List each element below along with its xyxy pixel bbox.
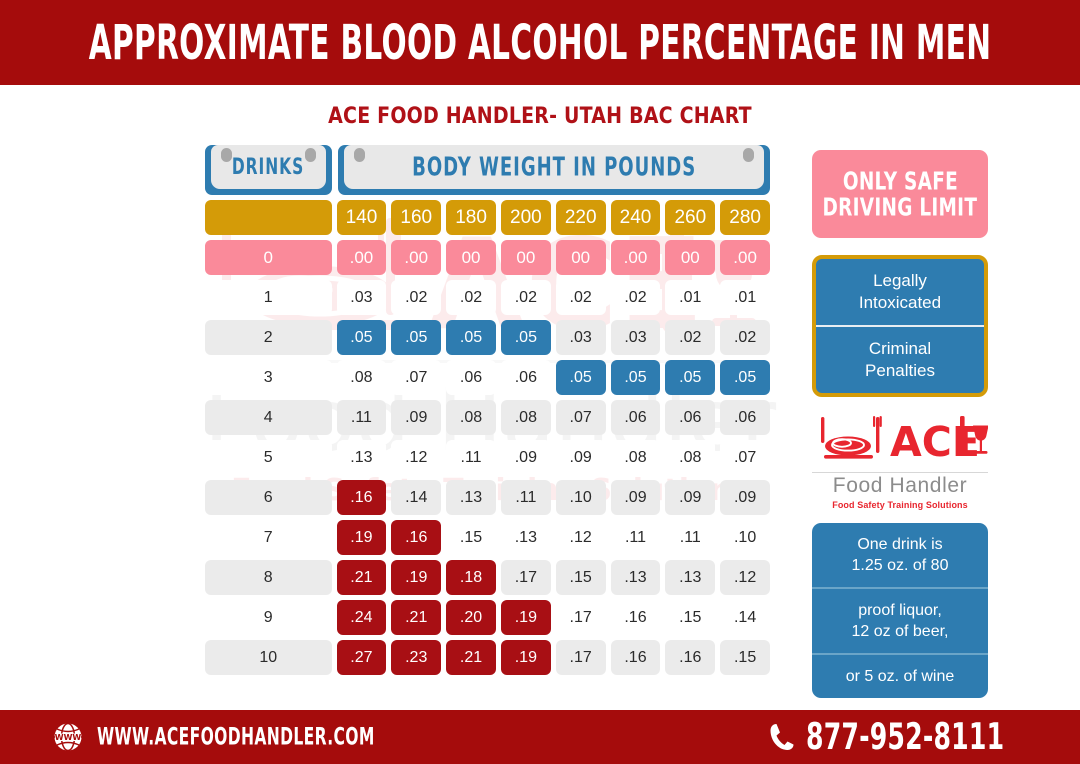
bac-value-cell: .14 [391, 480, 441, 515]
bac-value-cell: .19 [391, 560, 441, 595]
bac-value-cell: .11 [446, 440, 496, 475]
header-tab-weight: BODY WEIGHT IN POUNDS [338, 145, 770, 195]
bac-value-cell: .07 [391, 360, 441, 395]
bac-value-cell: .05 [446, 320, 496, 355]
page-title: APPROXIMATE BLOOD ALCOHOL PERCENTAGE IN … [89, 15, 991, 71]
info-segment-1: One drink is 1.25 oz. of 80 [812, 523, 988, 587]
weight-column-header: 260 [665, 200, 715, 235]
bac-value-cell: .16 [337, 480, 387, 515]
bac-value-cell: .21 [337, 560, 387, 595]
bac-value-cell: .19 [501, 640, 551, 675]
bac-value-cell: .16 [611, 600, 661, 635]
bac-value-cell: .21 [446, 640, 496, 675]
bac-value-cell: .08 [446, 400, 496, 435]
drinks-count-cell: 6 [205, 480, 332, 515]
bac-value-cell: .08 [337, 360, 387, 395]
info-line1b: 1.25 oz. of 80 [816, 555, 984, 576]
bac-value-cell: .15 [556, 560, 606, 595]
bac-value-cell: .13 [501, 520, 551, 555]
drinks-count-cell: 9 [205, 600, 332, 635]
pin-icon [354, 148, 365, 162]
bac-value-cell: .17 [501, 560, 551, 595]
bac-value-cell: .07 [720, 440, 770, 475]
footer-website[interactable]: WWW WWW.ACEFOODHANDLER.COM [53, 722, 436, 752]
drinks-count-cell: 5 [205, 440, 332, 475]
bac-value-cell: .18 [446, 560, 496, 595]
bac-value-cell: .09 [556, 440, 606, 475]
legend-intoxicated-group: Legally Intoxicated Criminal Penalties [812, 255, 988, 397]
pin-icon [221, 148, 232, 162]
drinks-count-cell: 8 [205, 560, 332, 595]
table-row: 2.05.05.05.05.03.03.02.02 [205, 320, 770, 355]
weight-column-header: 240 [611, 200, 661, 235]
bac-value-cell: .06 [446, 360, 496, 395]
bac-value-cell: .20 [446, 600, 496, 635]
logo-divider [812, 472, 988, 473]
bac-value-cell: .03 [611, 320, 661, 355]
legend-intox-line1: Legally [820, 270, 980, 292]
top-banner: APPROXIMATE BLOOD ALCOHOL PERCENTAGE IN … [0, 0, 1080, 85]
bac-value-cell: .09 [391, 400, 441, 435]
bac-value-cell: .09 [665, 480, 715, 515]
legend-sidebar: ONLY SAFE DRIVING LIMIT Legally Intoxica… [812, 150, 988, 698]
pin-icon [743, 148, 754, 162]
weights-header-row: 140160180200220240260280 [205, 200, 770, 235]
bac-value-cell: .05 [501, 320, 551, 355]
info-line2b: 12 oz of beer, [816, 621, 984, 642]
weight-column-header: 180 [446, 200, 496, 235]
table-row: 7.19.16.15.13.12.11.11.10 [205, 520, 770, 555]
globe-www-icon: WWW [53, 722, 83, 752]
table-row: 3.08.07.06.06.05.05.05.05 [205, 360, 770, 395]
bac-value-cell: .08 [611, 440, 661, 475]
bac-value-cell: .14 [720, 600, 770, 635]
bac-value-cell: .06 [611, 400, 661, 435]
bac-value-cell: .21 [391, 600, 441, 635]
bac-value-cell: .06 [665, 400, 715, 435]
drinks-count-cell: 4 [205, 400, 332, 435]
bac-value-cell: 00 [556, 240, 606, 275]
header-tab-drinks: DRINKS [205, 145, 332, 195]
table-row: 9.24.21.20.19.17.16.15.14 [205, 600, 770, 635]
bac-value-cell: .02 [391, 280, 441, 315]
drinks-count-cell: 7 [205, 520, 332, 555]
one-drink-info-box: One drink is 1.25 oz. of 80 proof liquor… [812, 523, 988, 698]
footer-phone[interactable]: 877-952-8111 [769, 720, 1042, 755]
bac-value-cell: .05 [556, 360, 606, 395]
drinks-count-cell: 0 [205, 240, 332, 275]
bac-value-cell: .19 [501, 600, 551, 635]
bac-value-cell: .10 [556, 480, 606, 515]
bac-value-cell: .00 [611, 240, 661, 275]
bac-value-cell: .12 [720, 560, 770, 595]
table-row: 8.21.19.18.17.15.13.13.12 [205, 560, 770, 595]
bac-value-cell: .08 [665, 440, 715, 475]
info-line3: or 5 oz. of wine [816, 666, 984, 687]
footer-url-text: WWW.ACEFOODHANDLER.COM [97, 723, 375, 751]
bac-value-cell: .09 [720, 480, 770, 515]
legend-legally-intoxicated: Legally Intoxicated [816, 259, 984, 325]
logo-mark: ACE [812, 413, 988, 467]
legend-safe-driving-limit: ONLY SAFE DRIVING LIMIT [812, 150, 988, 238]
drinks-count-cell: 10 [205, 640, 332, 675]
bac-value-cell: .15 [665, 600, 715, 635]
bac-value-cell: .00 [391, 240, 441, 275]
bac-value-cell: .01 [665, 280, 715, 315]
bac-value-cell: .17 [556, 600, 606, 635]
table-row: 4.11.09.08.08.07.06.06.06 [205, 400, 770, 435]
bac-value-cell: .09 [611, 480, 661, 515]
bac-value-cell: .05 [337, 320, 387, 355]
bac-value-cell: .02 [665, 320, 715, 355]
bac-value-cell: .13 [611, 560, 661, 595]
bac-value-cell: .07 [556, 400, 606, 435]
bac-value-cell: .12 [556, 520, 606, 555]
bac-value-cell: .03 [556, 320, 606, 355]
bac-value-cell: .27 [337, 640, 387, 675]
header-weight-label: BODY WEIGHT IN POUNDS [412, 152, 696, 181]
table-row: 1.03.02.02.02.02.02.01.01 [205, 280, 770, 315]
legend-safe-line2: DRIVING LIMIT [823, 192, 978, 223]
weight-column-header: 220 [556, 200, 606, 235]
bac-value-cell: .12 [391, 440, 441, 475]
bac-value-cell: .05 [665, 360, 715, 395]
bac-value-cell: .13 [337, 440, 387, 475]
bac-value-cell: .19 [337, 520, 387, 555]
bac-value-cell: .06 [501, 360, 551, 395]
bac-value-cell: .00 [337, 240, 387, 275]
bac-value-cell: .02 [556, 280, 606, 315]
drinks-count-cell: 2 [205, 320, 332, 355]
info-line2a: proof liquor, [816, 600, 984, 621]
bac-value-cell: .24 [337, 600, 387, 635]
bac-value-cell: .05 [391, 320, 441, 355]
bac-value-cell: 00 [501, 240, 551, 275]
legend-criminal-line1: Criminal [820, 338, 980, 360]
bac-value-cell: .05 [611, 360, 661, 395]
phone-icon [769, 722, 795, 752]
bac-value-cell: .02 [720, 320, 770, 355]
svg-text:WWW: WWW [55, 733, 82, 742]
bac-value-cell: .01 [720, 280, 770, 315]
info-segment-2: proof liquor, 12 oz of beer, [812, 587, 988, 653]
table-row: 6.16.14.13.11.10.09.09.09 [205, 480, 770, 515]
legend-intox-line2: Intoxicated [820, 292, 980, 314]
bac-value-cell: .15 [446, 520, 496, 555]
weights-header-spacer [205, 200, 332, 235]
bac-value-cell: 00 [446, 240, 496, 275]
bac-value-cell: .10 [720, 520, 770, 555]
bac-value-cell: .11 [665, 520, 715, 555]
weight-column-header: 140 [337, 200, 387, 235]
chart-subtitle: ACE FOOD HANDLER- UTAH BAC CHART [27, 102, 1053, 129]
bac-value-cell: .09 [501, 440, 551, 475]
footer-bar: WWW WWW.ACEFOODHANDLER.COM 877-952-8111 [0, 710, 1080, 764]
bac-table: ACE Food Handler Food Safety Training So… [205, 145, 770, 690]
footer-phone-text: 877-952-8111 [806, 716, 1004, 759]
bac-value-cell: .15 [720, 640, 770, 675]
bac-value-cell: .02 [446, 280, 496, 315]
bac-value-cell: .13 [446, 480, 496, 515]
bac-value-cell: .16 [665, 640, 715, 675]
bac-value-cell: .23 [391, 640, 441, 675]
table-row: 0.00.00000000.0000.00 [205, 240, 770, 275]
info-segment-3: or 5 oz. of wine [812, 653, 988, 698]
bac-value-cell: .11 [337, 400, 387, 435]
table-row: 5.13.12.11.09.09.08.08.07 [205, 440, 770, 475]
table-header-tabs: DRINKS BODY WEIGHT IN POUNDS [205, 145, 770, 195]
bac-value-cell: .02 [611, 280, 661, 315]
ace-food-handler-logo: ACE Food Handler Food Safety Training So… [812, 413, 988, 510]
table-body: 1401601802002202402602800.00.00000000.00… [205, 200, 770, 675]
bac-value-cell: .11 [611, 520, 661, 555]
pin-icon [305, 148, 316, 162]
bac-value-cell: 00 [665, 240, 715, 275]
bac-value-cell: .03 [337, 280, 387, 315]
drinks-count-cell: 3 [205, 360, 332, 395]
bac-value-cell: .11 [501, 480, 551, 515]
table-row: 10.27.23.21.19.17.16.16.15 [205, 640, 770, 675]
bac-value-cell: .08 [501, 400, 551, 435]
legend-criminal-line2: Penalties [820, 360, 980, 382]
bac-value-cell: .06 [720, 400, 770, 435]
weight-column-header: 200 [501, 200, 551, 235]
legend-criminal-penalties: Criminal Penalties [816, 325, 984, 393]
bac-value-cell: .17 [556, 640, 606, 675]
header-drinks-label: DRINKS [232, 154, 304, 180]
bac-value-cell: .13 [665, 560, 715, 595]
bac-chart-infographic: APPROXIMATE BLOOD ALCOHOL PERCENTAGE IN … [0, 0, 1080, 764]
logo-mark-svg: ACE [812, 413, 988, 467]
bac-value-cell: .02 [501, 280, 551, 315]
bac-value-cell: .00 [720, 240, 770, 275]
logo-name: Food Handler [812, 474, 988, 498]
drinks-count-cell: 1 [205, 280, 332, 315]
bac-value-cell: .16 [611, 640, 661, 675]
header-tab-weight-inner: BODY WEIGHT IN POUNDS [344, 145, 764, 189]
weight-column-header: 160 [391, 200, 441, 235]
weight-column-header: 280 [720, 200, 770, 235]
logo-tagline: Food Safety Training Solutions [812, 500, 988, 510]
info-line1a: One drink is [816, 534, 984, 555]
bac-value-cell: .05 [720, 360, 770, 395]
bac-value-cell: .16 [391, 520, 441, 555]
